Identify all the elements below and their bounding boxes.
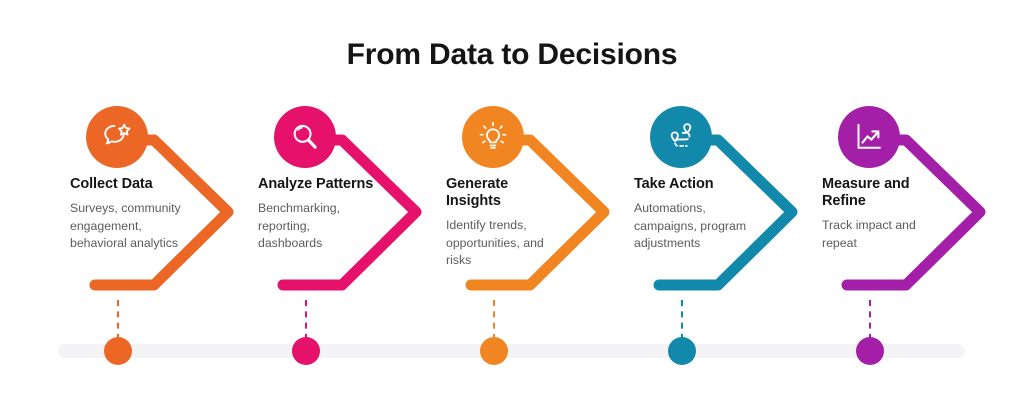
timeline-connector	[117, 300, 121, 340]
step-body: Track impact and repeat	[822, 217, 940, 252]
step-title: Take Action	[634, 176, 752, 193]
growth-chart-icon	[852, 120, 886, 154]
step-body: Automations, campaigns, program adjustme…	[634, 200, 752, 252]
step-title: Analyze Patterns	[258, 176, 376, 193]
speech-bubble-star-icon	[100, 120, 134, 154]
step-icon-badge	[274, 106, 336, 168]
step-body: Surveys, community engagement, behaviora…	[70, 200, 188, 252]
timeline-marker-dot[interactable]	[668, 337, 696, 365]
process-step-measure-and-refine[interactable]: Measure and Refine Track impact and repe…	[814, 0, 1024, 330]
timeline-marker-dot[interactable]	[480, 337, 508, 365]
step-icon-badge	[650, 106, 712, 168]
step-icon-badge	[462, 106, 524, 168]
step-body: Benchmarking, reporting, dashboards	[258, 200, 376, 252]
magnifying-glass-icon	[288, 120, 322, 154]
step-text-block: Collect Data Surveys, community engageme…	[70, 176, 188, 252]
step-body: Identify trends, opportunities, and risk…	[446, 217, 564, 269]
step-icon-badge	[86, 106, 148, 168]
timeline-connector	[681, 300, 685, 340]
timeline-connector	[869, 300, 873, 340]
timeline-marker-dot[interactable]	[292, 337, 320, 365]
timeline-marker-dot[interactable]	[104, 337, 132, 365]
timeline-marker-dot[interactable]	[856, 337, 884, 365]
timeline-connector	[493, 300, 497, 340]
infographic-canvas: From Data to Decisions Collect Data Surv…	[0, 0, 1024, 418]
step-title: Measure and Refine	[822, 176, 940, 210]
lightbulb-icon	[476, 120, 510, 154]
step-text-block: Take Action Automations, campaigns, prog…	[634, 176, 752, 252]
timeline-bar	[58, 344, 965, 358]
step-icon-badge	[838, 106, 900, 168]
step-arrow-shape	[814, 0, 1024, 330]
timeline-connector	[305, 300, 309, 340]
step-text-block: Analyze Patterns Benchmarking, reporting…	[258, 176, 376, 252]
step-title: Collect Data	[70, 176, 188, 193]
step-text-block: Measure and Refine Track impact and repe…	[822, 176, 940, 252]
step-text-block: Generate Insights Identify trends, oppor…	[446, 176, 564, 270]
step-title: Generate Insights	[446, 176, 564, 210]
route-map-pins-icon	[664, 120, 698, 154]
